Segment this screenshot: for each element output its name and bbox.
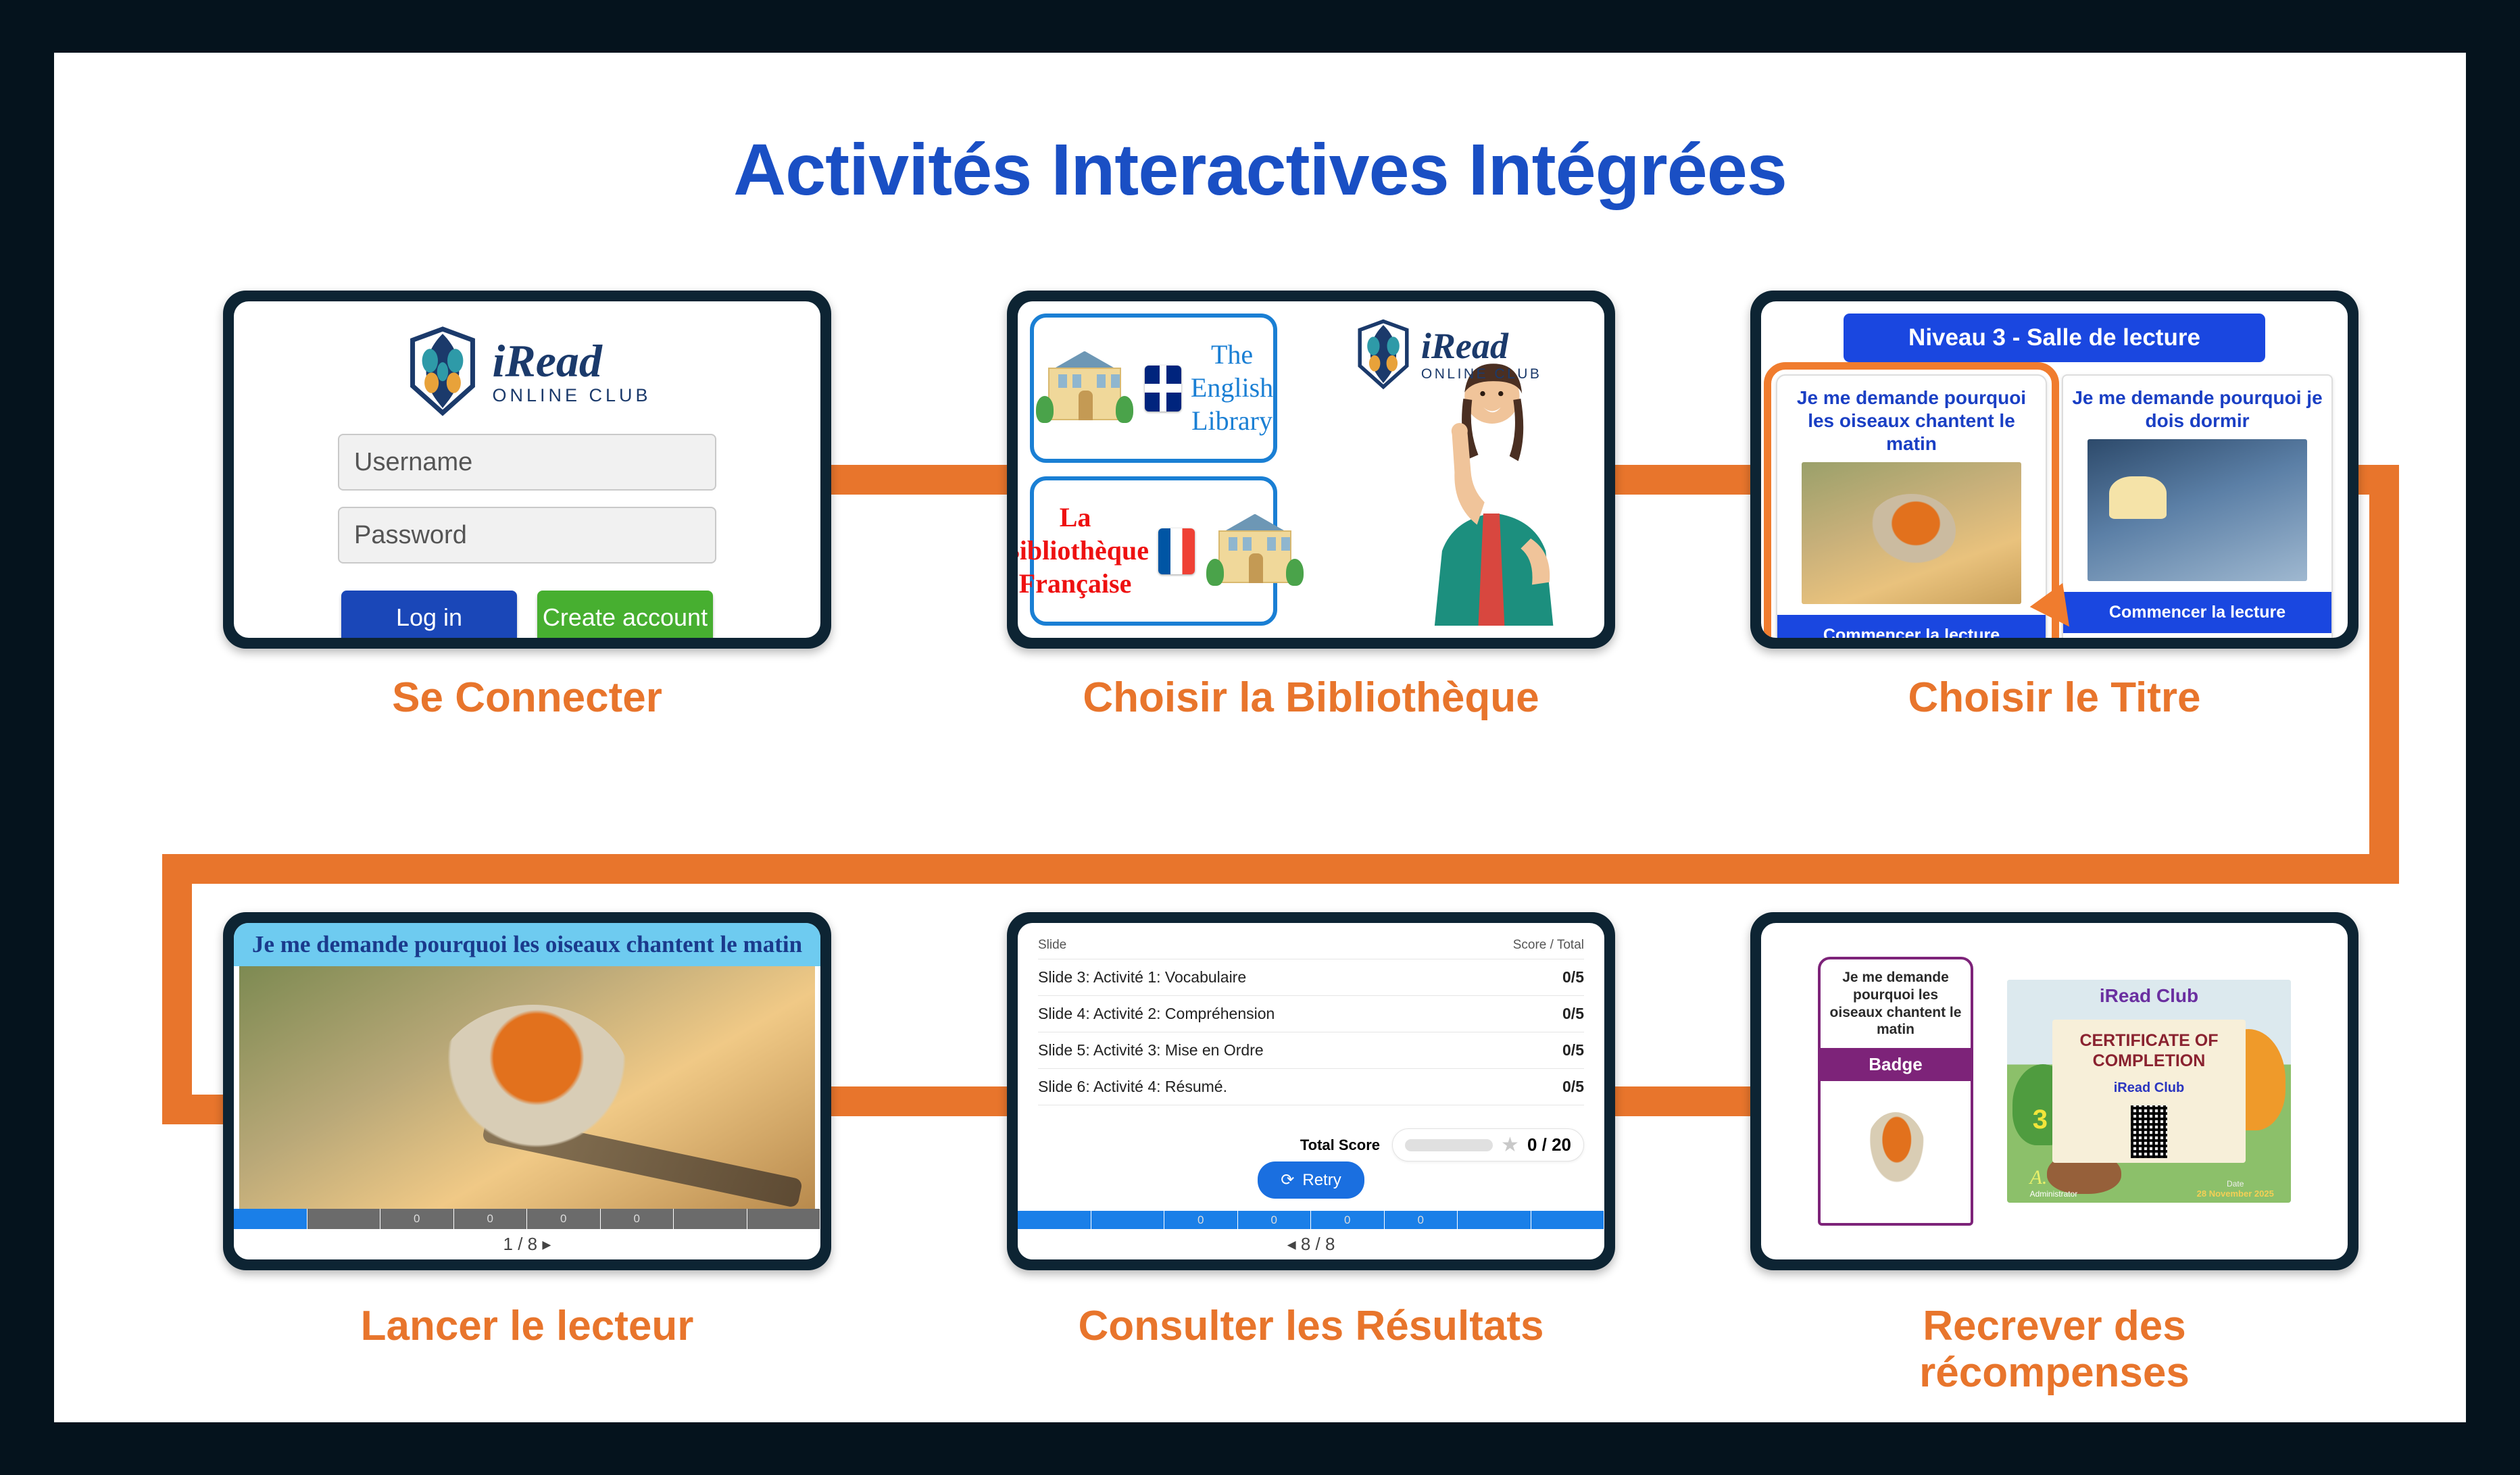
connector-row-bridge [162,854,2399,884]
card-results[interactable]: Slide Score / Total Slide 3: Activité 1:… [1007,912,1615,1270]
create-account-button[interactable]: Create account [537,591,713,638]
card-rewards[interactable]: Je me demande pourquoi les oiseaux chant… [1750,912,2358,1270]
caption-step-4: Lancer le lecteur [223,1303,831,1349]
page-indicator: 8 / 8 [1301,1234,1335,1254]
badge-card: Je me demande pourquoi les oiseaux chant… [1818,957,1973,1225]
rewards-screen: Je me demande pourquoi les oiseaux chant… [1761,923,2348,1259]
progress-segment[interactable]: 0 [1238,1211,1312,1229]
connector-1-2 [824,465,1020,495]
iread-emblem-icon [1352,318,1414,391]
progress-segment[interactable] [1458,1211,1531,1229]
star-icon: ★ [1501,1135,1519,1155]
library-screen: The English Library La Bibliothèque Fran… [1018,301,1604,638]
activity-label: Slide 3: Activité 1: Vocabulaire [1038,968,1246,986]
login-screen: iRead ONLINE CLUB Username Password Log … [234,301,820,638]
date-label: Date [2197,1179,2274,1189]
infographic-frame: Activités Interactives Intégrées [0,0,2520,1475]
page-title: Activités Interactives Intégrées [54,127,2466,211]
page-indicator: 1 / 8 [503,1234,538,1254]
refresh-icon: ⟳ [1281,1170,1294,1190]
administrator-label: Administrator [2030,1189,2078,1199]
progress-segment[interactable] [234,1209,307,1229]
total-score-track [1405,1139,1493,1151]
date-value: 28 November 2025 [2197,1189,2274,1199]
progress-segment[interactable]: 0 [380,1209,454,1229]
retry-label: Retry [1302,1171,1341,1190]
activity-score: 0/5 [1562,968,1584,986]
book-title: Je me demande pourquoi je dois dormir [2063,376,2331,439]
certificate-date: Date 28 November 2025 [2197,1179,2274,1199]
level-banner: Niveau 3 - Salle de lecture [1844,314,2266,362]
brand-subtitle: ONLINE CLUB [1421,367,1542,381]
progress-segment[interactable] [1018,1211,1091,1229]
caption-step-1: Se Connecter [223,674,831,721]
progress-segment[interactable] [1091,1211,1165,1229]
france-flag-icon [1158,528,1195,574]
table-row: Slide 6: Activité 4: Résumé. 0/5 [1038,1069,1584,1105]
progress-segment[interactable]: 0 [1385,1211,1458,1229]
total-score-value: 0 / 20 [1527,1134,1571,1155]
card-title-select[interactable]: Niveau 3 - Salle de lecture Je me demand… [1750,291,2358,649]
progress-segment[interactable]: 0 [454,1209,528,1229]
book-title: Je me demande pourquoi les oiseaux chant… [1777,376,2046,462]
uk-flag-icon [1145,366,1181,411]
book-cover-sleep-image [2087,439,2308,581]
card-login[interactable]: iRead ONLINE CLUB Username Password Log … [223,291,831,649]
progress-segment[interactable]: 0 [1164,1211,1238,1229]
book-cover-bird-image [1802,462,2022,604]
reader-progress-bar[interactable]: 0 0 0 0 [234,1209,820,1229]
presenter-photo [1389,357,1592,626]
table-row: Slide 3: Activité 1: Vocabulaire 0/5 [1038,959,1584,996]
activity-score: 0/5 [1562,1041,1584,1059]
start-reading-button[interactable]: Commencer la lecture [1777,615,2046,638]
reader-page-image [239,966,815,1209]
signature-icon: A. [2030,1166,2078,1189]
password-input[interactable]: Password [338,507,716,564]
certificate-heading: CERTIFICATE OF COMPLETION [2052,1030,2246,1071]
login-button[interactable]: Log in [341,591,517,638]
title-select-screen: Niveau 3 - Salle de lecture Je me demand… [1761,301,2348,638]
activity-label: Slide 4: Activité 2: Compréhension [1038,1005,1275,1023]
english-library-label: The English Library [1191,339,1273,437]
certificate-subtitle: iRead Club [2114,1080,2184,1096]
book-card-second[interactable]: Je me demande pourquoi je dois dormir Co… [2062,374,2333,638]
library-option-french[interactable]: La Bibliothèque Française [1030,476,1277,626]
activity-score: 0/5 [1562,1005,1584,1023]
white-canvas: Activités Interactives Intégrées [54,53,2466,1422]
brand-name: iRead [1421,328,1508,364]
library-building-icon [1034,351,1135,426]
results-progress-bar[interactable]: 0 0 0 0 [1018,1211,1604,1229]
card-reader[interactable]: Je me demande pourquoi les oiseaux chant… [223,912,831,1270]
caption-step-6: Recrever des récompenses [1784,1303,2325,1397]
caption-step-2: Choisir la Bibliothèque [1041,674,1581,721]
iread-emblem-icon [403,324,483,418]
qr-code-icon [2131,1105,2167,1158]
caption-step-3: Choisir le Titre [1750,674,2358,721]
certificate-level: 3 [2033,1105,2048,1135]
progress-segment[interactable]: 0 [601,1209,674,1229]
table-row: Slide 5: Activité 3: Mise en Ordre 0/5 [1038,1032,1584,1069]
iread-logo: iRead ONLINE CLUB [403,324,651,418]
results-col-score: Score / Total [1513,938,1584,953]
next-page-icon[interactable]: ▸ [542,1234,551,1254]
total-score-label: Total Score [1300,1136,1380,1154]
activity-label: Slide 6: Activité 4: Résumé. [1038,1078,1227,1096]
progress-segment[interactable] [747,1209,821,1229]
reader-title: Je me demande pourquoi les oiseaux chant… [234,923,820,966]
certificate-signature: A. Administrator [2030,1166,2078,1199]
activity-label: Slide 5: Activité 3: Mise en Ordre [1038,1041,1264,1059]
connector-left-v [162,854,192,1124]
results-screen: Slide Score / Total Slide 3: Activité 1:… [1018,923,1604,1259]
library-option-english[interactable]: The English Library [1030,314,1277,463]
book-card-selected[interactable]: Je me demande pourquoi les oiseaux chant… [1776,374,2047,638]
connector-3-down-v [2369,465,2399,884]
reader-pagination[interactable]: 1 / 8 ▸ [234,1229,820,1259]
table-row: Slide 4: Activité 2: Compréhension 0/5 [1038,996,1584,1032]
card-library[interactable]: The English Library La Bibliothèque Fran… [1007,291,1615,649]
brand-subtitle: ONLINE CLUB [492,386,651,405]
progress-segment[interactable]: 0 [1311,1211,1385,1229]
start-reading-button[interactable]: Commencer la lecture [2063,592,2331,633]
results-pagination[interactable]: ◂ 8 / 8 [1018,1229,1604,1259]
progress-segment[interactable] [1531,1211,1605,1229]
connector-4-5 [824,1086,1020,1116]
total-score-badge: ★ 0 / 20 [1392,1128,1584,1161]
reader-screen: Je me demande pourquoi les oiseaux chant… [234,923,820,1259]
results-col-slide: Slide [1038,938,1066,953]
certificate: iRead Club CERTIFICATE OF COMPLETION iRe… [2007,980,2291,1203]
iread-logo-library: iRead ONLINE CLUB [1352,318,1542,391]
username-input[interactable]: Username [338,434,716,491]
badge-title: Je me demande pourquoi les oiseaux chant… [1821,959,1971,1047]
french-library-label: La Bibliothèque Française [1018,501,1149,600]
certificate-club: iRead Club [2007,985,2291,1007]
progress-segment[interactable] [307,1209,381,1229]
progress-segment[interactable] [674,1209,747,1229]
badge-bird-image [1821,1081,1971,1223]
caption-step-5: Consulter les Résultats [1041,1303,1581,1349]
progress-segment[interactable]: 0 [527,1209,601,1229]
prev-page-icon[interactable]: ◂ [1287,1234,1301,1254]
activity-score: 0/5 [1562,1078,1584,1096]
retry-button[interactable]: ⟳ Retry [1258,1161,1364,1199]
brand-name: iRead [492,338,601,384]
badge-label: Badge [1821,1048,1971,1081]
